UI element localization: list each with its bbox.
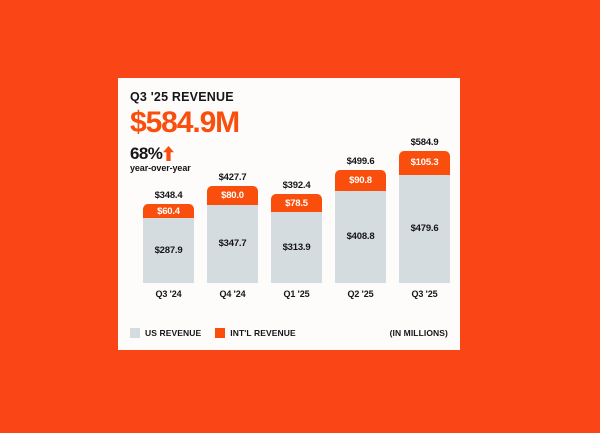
- bar-segment-intl-revenue: $90.8: [335, 170, 386, 190]
- bar-total-label: $499.6: [347, 156, 375, 167]
- legend-swatch-us-revenue: [130, 328, 140, 338]
- bar-total-label: $427.7: [219, 172, 247, 183]
- bar-total-label: $392.4: [283, 180, 311, 191]
- bar-total-label: $348.4: [155, 190, 183, 201]
- bar-group: $392.4$78.5$313.9: [271, 180, 322, 283]
- legend-label-intl-revenue: INT'L REVENUE: [230, 328, 296, 338]
- revenue-chart-card: Q3 '25 REVENUE $584.9M 68% year-over-yea…: [118, 78, 460, 350]
- bar-stack: $80.0$347.7: [207, 186, 258, 283]
- bar-segment-intl-revenue: $78.5: [271, 194, 322, 212]
- bar-segment-intl-revenue: $105.3: [399, 151, 450, 175]
- x-axis-tick-label: Q3 '25: [399, 289, 450, 299]
- x-axis-tick-label: Q3 '24: [143, 289, 194, 299]
- bar-segment-us-revenue: $408.8: [335, 191, 386, 283]
- bar-stack: $105.3$479.6: [399, 151, 450, 283]
- bar-total-label: $584.9: [411, 137, 439, 148]
- legend-swatch-intl-revenue: [215, 328, 225, 338]
- legend-item-intl-revenue: INT'L REVENUE: [215, 328, 296, 338]
- bar-group: $499.6$90.8$408.8: [335, 156, 386, 283]
- bar-segment-intl-revenue: $80.0: [207, 186, 258, 204]
- bar-stack: $60.4$287.9: [143, 204, 194, 283]
- legend-units-note: (IN MILLIONS): [390, 328, 448, 338]
- bar-group: $427.7$80.0$347.7: [207, 172, 258, 283]
- stacked-bar-plot: $348.4$60.4$287.9Q3 '24$427.7$80.0$347.7…: [143, 138, 450, 283]
- bar-segment-intl-revenue: $60.4: [143, 204, 194, 218]
- chart-legend: US REVENUE INT'L REVENUE (IN MILLIONS): [130, 328, 448, 338]
- bar-stack: $78.5$313.9: [271, 194, 322, 283]
- bar-segment-us-revenue: $479.6: [399, 175, 450, 283]
- legend-item-us-revenue: US REVENUE: [130, 328, 201, 338]
- x-axis-tick-label: Q2 '25: [335, 289, 386, 299]
- bar-segment-us-revenue: $347.7: [207, 205, 258, 283]
- x-axis-tick-label: Q4 '24: [207, 289, 258, 299]
- page-title: Q3 '25 REVENUE: [130, 90, 330, 104]
- legend-label-us-revenue: US REVENUE: [145, 328, 201, 338]
- bar-group: $348.4$60.4$287.9: [143, 190, 194, 283]
- bar-group: $584.9$105.3$479.6: [399, 137, 450, 283]
- bar-segment-us-revenue: $313.9: [271, 212, 322, 283]
- bar-stack: $90.8$408.8: [335, 170, 386, 283]
- headline-revenue-value: $584.9M: [130, 108, 330, 138]
- bar-segment-us-revenue: $287.9: [143, 218, 194, 283]
- x-axis-tick-label: Q1 '25: [271, 289, 322, 299]
